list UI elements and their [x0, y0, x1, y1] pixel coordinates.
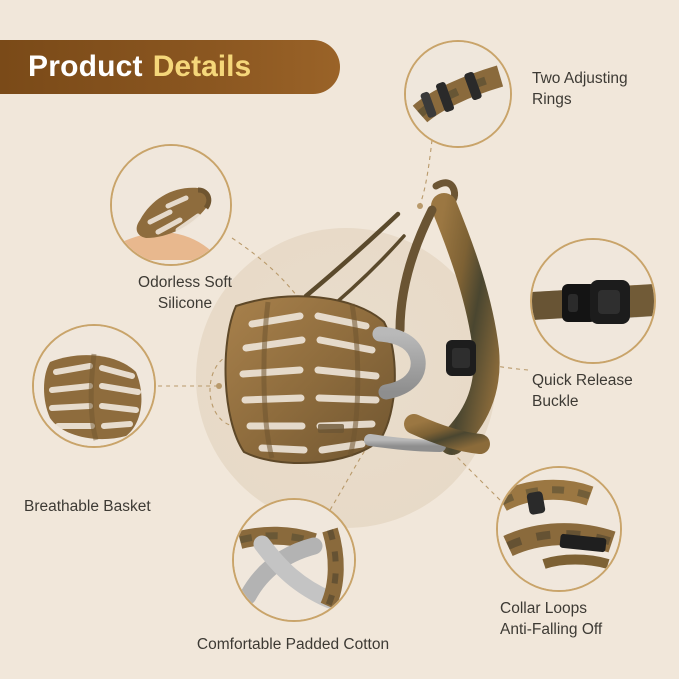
padded-cotton-strap-photo — [234, 500, 354, 620]
header-banner: Product Details — [0, 40, 340, 94]
callout-image-collar-loops — [496, 466, 622, 592]
callout-label-collar-loops: Collar Loops Anti-Falling Off — [500, 598, 679, 640]
page-title-accent: Details — [153, 50, 251, 84]
black-buckle-photo — [532, 240, 654, 362]
callout-label-two-adjusting-rings: Two Adjusting Rings — [532, 68, 679, 110]
callout-label-quick-release-buckle: Quick Release Buckle — [532, 370, 679, 412]
hand-holding-muzzle-photo — [112, 146, 230, 264]
callout-image-two-adjusting-rings — [404, 40, 512, 148]
callout-label-comfortable-padded-cotton: Comfortable Padded Cotton — [178, 634, 408, 655]
callout-image-breathable-basket — [32, 324, 156, 448]
callout-image-comfortable-padded-cotton — [232, 498, 356, 622]
product-details-infographic: Product Details — [0, 0, 679, 679]
callout-image-quick-release-buckle — [530, 238, 656, 364]
callout-label-odorless-soft-silicone: Odorless Soft Silicone — [100, 272, 270, 314]
callout-image-odorless-soft-silicone — [110, 144, 232, 266]
strap-with-rings-photo — [406, 42, 510, 146]
basket-muzzle-photo — [34, 326, 154, 446]
collar-loops-photo — [498, 468, 620, 590]
callout-label-breathable-basket: Breathable Basket — [24, 496, 214, 517]
page-title-primary: Product — [28, 50, 143, 84]
